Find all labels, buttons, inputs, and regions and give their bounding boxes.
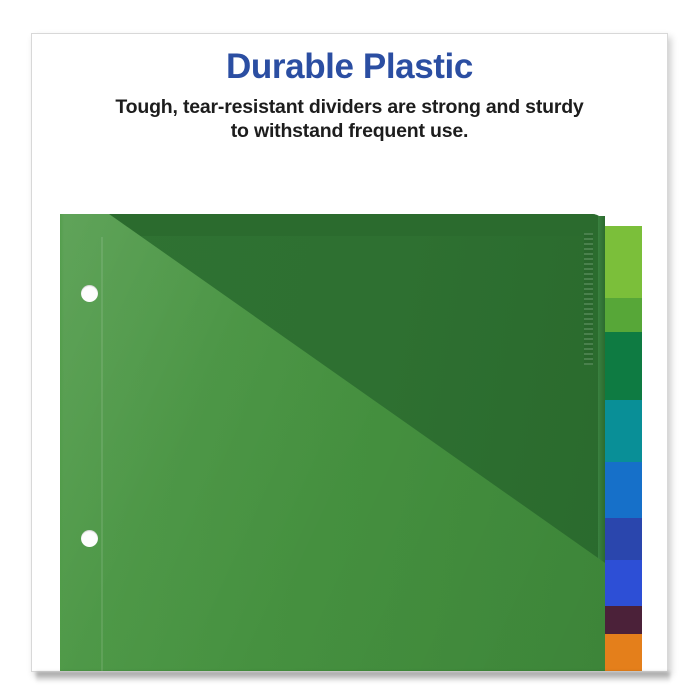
punch-hole-top [81,285,98,302]
page-title: Durable Plastic [32,48,667,87]
punch-hole-bottom [81,530,98,547]
card-drop-shadow [36,672,670,683]
headline-block: Durable Plastic Tough, tear-resistant di… [32,48,667,144]
headline-subtitle-line-2: to withstand frequent use. [231,120,468,142]
divider-sheet-top-band [60,214,605,236]
reinforcement-rib-strip [584,233,593,365]
divider-sheet-left-edge [60,214,64,672]
product-image-card: Durable Plastic Tough, tear-resistant di… [31,33,668,672]
headline-subtitle: Tough, tear-resistant dividers are stron… [70,95,630,145]
binding-seam-line [101,237,103,672]
headline-subtitle-line-1: Tough, tear-resistant dividers are stron… [115,96,583,118]
product-photo [32,181,668,672]
